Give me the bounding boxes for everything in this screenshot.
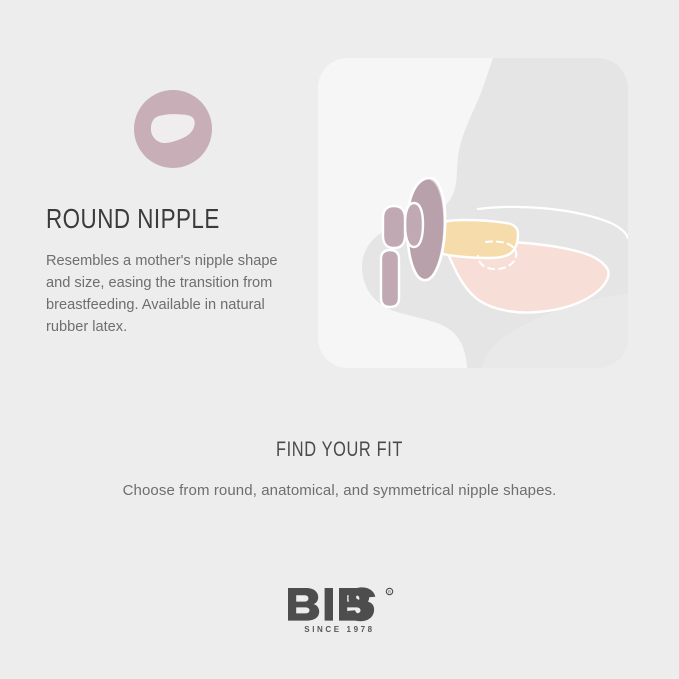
svg-text:R: R	[387, 590, 390, 595]
find-your-fit-subtitle: Choose from round, anatomical, and symme…	[0, 482, 679, 499]
find-your-fit-heading: FIND YOUR FIT	[75, 437, 605, 462]
round-nipple-silhouette-icon	[134, 90, 212, 168]
find-your-fit-section: FIND YOUR FIT Choose from round, anatomi…	[0, 437, 679, 499]
page-title: ROUND NIPPLE	[46, 204, 246, 235]
feature-description: Resembles a mother's nipple shape and si…	[46, 250, 291, 339]
feature-text-column: ROUND NIPPLE Resembles a mother's nipple…	[46, 58, 296, 338]
baby-head-cross-section-with-pacifier	[318, 58, 628, 368]
bibs-wordmark-icon: R	[286, 586, 394, 622]
product-feature-section: ROUND NIPPLE Resembles a mother's nipple…	[0, 0, 679, 400]
brand-tagline: SINCE 1978	[0, 625, 679, 634]
brand-logo: R SINCE 1978	[0, 586, 679, 634]
